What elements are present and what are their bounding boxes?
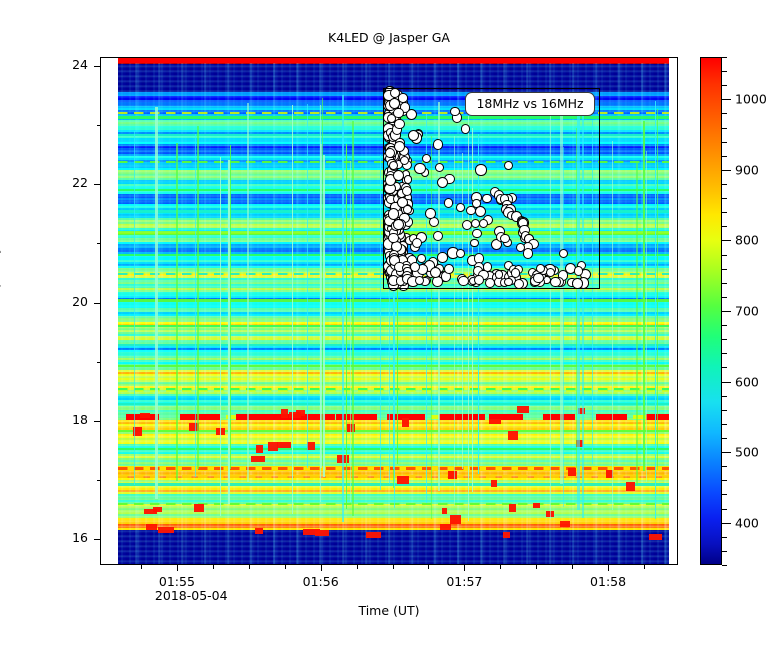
colorbar-tick-minor bbox=[722, 367, 727, 368]
x-axis-tick-minor bbox=[213, 565, 214, 569]
x-axis-tick-minor bbox=[644, 565, 645, 569]
colorbar-tick-label: 600 bbox=[735, 374, 759, 389]
colorbar-tick-major bbox=[722, 523, 731, 524]
x-axis-tick-minor bbox=[500, 565, 501, 569]
colorbar-tick-minor bbox=[722, 85, 727, 86]
y-axis-tick-major bbox=[94, 303, 100, 304]
colorbar-tick-minor bbox=[722, 551, 727, 552]
x-axis-tick-minor bbox=[285, 565, 286, 569]
colorbar-tick-minor bbox=[722, 509, 727, 510]
colorbar-tick-minor bbox=[722, 226, 727, 227]
colorbar-tick-minor bbox=[722, 325, 727, 326]
x-axis-tick-major bbox=[608, 565, 609, 571]
y-axis-tick-minor bbox=[97, 243, 101, 244]
colorbar-tick-major bbox=[722, 311, 731, 312]
colorbar-tick-major bbox=[722, 170, 731, 171]
colorbar-tick-minor bbox=[722, 255, 727, 256]
y-axis-tick-minor bbox=[97, 480, 101, 481]
y-axis-tick-label: 22 bbox=[0, 175, 88, 190]
colorbar-tick-minor bbox=[722, 184, 727, 185]
colorbar-tick-label: 900 bbox=[735, 162, 759, 177]
figure-canvas: K4LED @ Jasper GA Frequency (MHz) 18MHz … bbox=[0, 0, 783, 656]
colorbar-tick-minor bbox=[722, 565, 727, 566]
spectrogram-image bbox=[118, 58, 669, 564]
y-axis-tick-label: 18 bbox=[0, 412, 88, 427]
y-axis-tick-major bbox=[94, 539, 100, 540]
colorbar-tick-minor bbox=[722, 269, 727, 270]
colorbar-tick-minor bbox=[722, 537, 727, 538]
colorbar: 4005006007008009001000 bbox=[700, 57, 722, 565]
x-axis-tick-minor bbox=[249, 565, 250, 569]
colorbar-tick-major bbox=[722, 240, 731, 241]
x-axis-tick-minor bbox=[141, 565, 142, 569]
x-axis-tick-major bbox=[321, 565, 322, 571]
colorbar-tick-minor bbox=[722, 339, 727, 340]
y-axis-tick-label: 24 bbox=[0, 57, 88, 72]
x-axis-tick-major bbox=[177, 565, 178, 571]
colorbar-tick-major bbox=[722, 382, 731, 383]
colorbar-tick-minor bbox=[722, 438, 727, 439]
colorbar-tick-minor bbox=[722, 113, 727, 114]
colorbar-tick-major bbox=[722, 452, 731, 453]
colorbar-tick-label: 700 bbox=[735, 304, 759, 319]
annotation-label: 18MHz vs 16MHz bbox=[465, 92, 594, 117]
colorbar-tick-minor bbox=[722, 466, 727, 467]
colorbar-tick-minor bbox=[722, 57, 727, 58]
x-axis-tick-minor bbox=[393, 565, 394, 569]
x-axis-label: Time (UT) bbox=[100, 603, 678, 618]
x-axis-tick-label: 01:55 bbox=[159, 574, 195, 589]
x-axis-tick-minor bbox=[536, 565, 537, 569]
x-axis-tick-minor bbox=[357, 565, 358, 569]
colorbar-tick-label: 400 bbox=[735, 515, 759, 530]
x-axis-tick-major bbox=[464, 565, 465, 571]
colorbar-tick-minor bbox=[722, 353, 727, 354]
y-axis-tick-label: 16 bbox=[0, 530, 88, 545]
colorbar-tick-minor bbox=[722, 494, 727, 495]
y-axis-tick-major bbox=[94, 184, 100, 185]
colorbar-tick-minor bbox=[722, 212, 727, 213]
colorbar-tick-minor bbox=[722, 396, 727, 397]
x-axis-tick-label: 01:56 bbox=[303, 574, 339, 589]
x-axis-tick-minor bbox=[428, 565, 429, 569]
x-axis-tick-label: 01:58 bbox=[590, 574, 626, 589]
y-axis-tick-major bbox=[94, 421, 100, 422]
colorbar-tick-label: 800 bbox=[735, 233, 759, 248]
x-axis-tick-minor bbox=[572, 565, 573, 569]
y-axis-tick-minor bbox=[97, 125, 101, 126]
colorbar-tick-minor bbox=[722, 480, 727, 481]
colorbar-tick-minor bbox=[722, 283, 727, 284]
colorbar-tick-minor bbox=[722, 198, 727, 199]
colorbar-gradient bbox=[700, 57, 722, 565]
colorbar-tick-label: 500 bbox=[735, 445, 759, 460]
colorbar-tick-major bbox=[722, 99, 731, 100]
y-axis-tick-label: 20 bbox=[0, 294, 88, 309]
colorbar-tick-minor bbox=[722, 424, 727, 425]
y-axis-tick-major bbox=[94, 66, 100, 67]
colorbar-tick-label: 1000 bbox=[735, 92, 767, 107]
spectrogram-axes: 18MHz vs 16MHz bbox=[100, 57, 678, 565]
x-axis-date-label: 2018-05-04 bbox=[155, 588, 228, 603]
colorbar-tick-minor bbox=[722, 156, 727, 157]
colorbar-tick-minor bbox=[722, 128, 727, 129]
overlay-selection-box bbox=[383, 88, 600, 289]
x-axis-tick-label: 01:57 bbox=[446, 574, 482, 589]
colorbar-tick-minor bbox=[722, 142, 727, 143]
colorbar-tick-minor bbox=[722, 410, 727, 411]
y-axis-tick-minor bbox=[97, 362, 101, 363]
page-title: K4LED @ Jasper GA bbox=[100, 30, 678, 45]
colorbar-tick-minor bbox=[722, 71, 727, 72]
colorbar-tick-minor bbox=[722, 297, 727, 298]
